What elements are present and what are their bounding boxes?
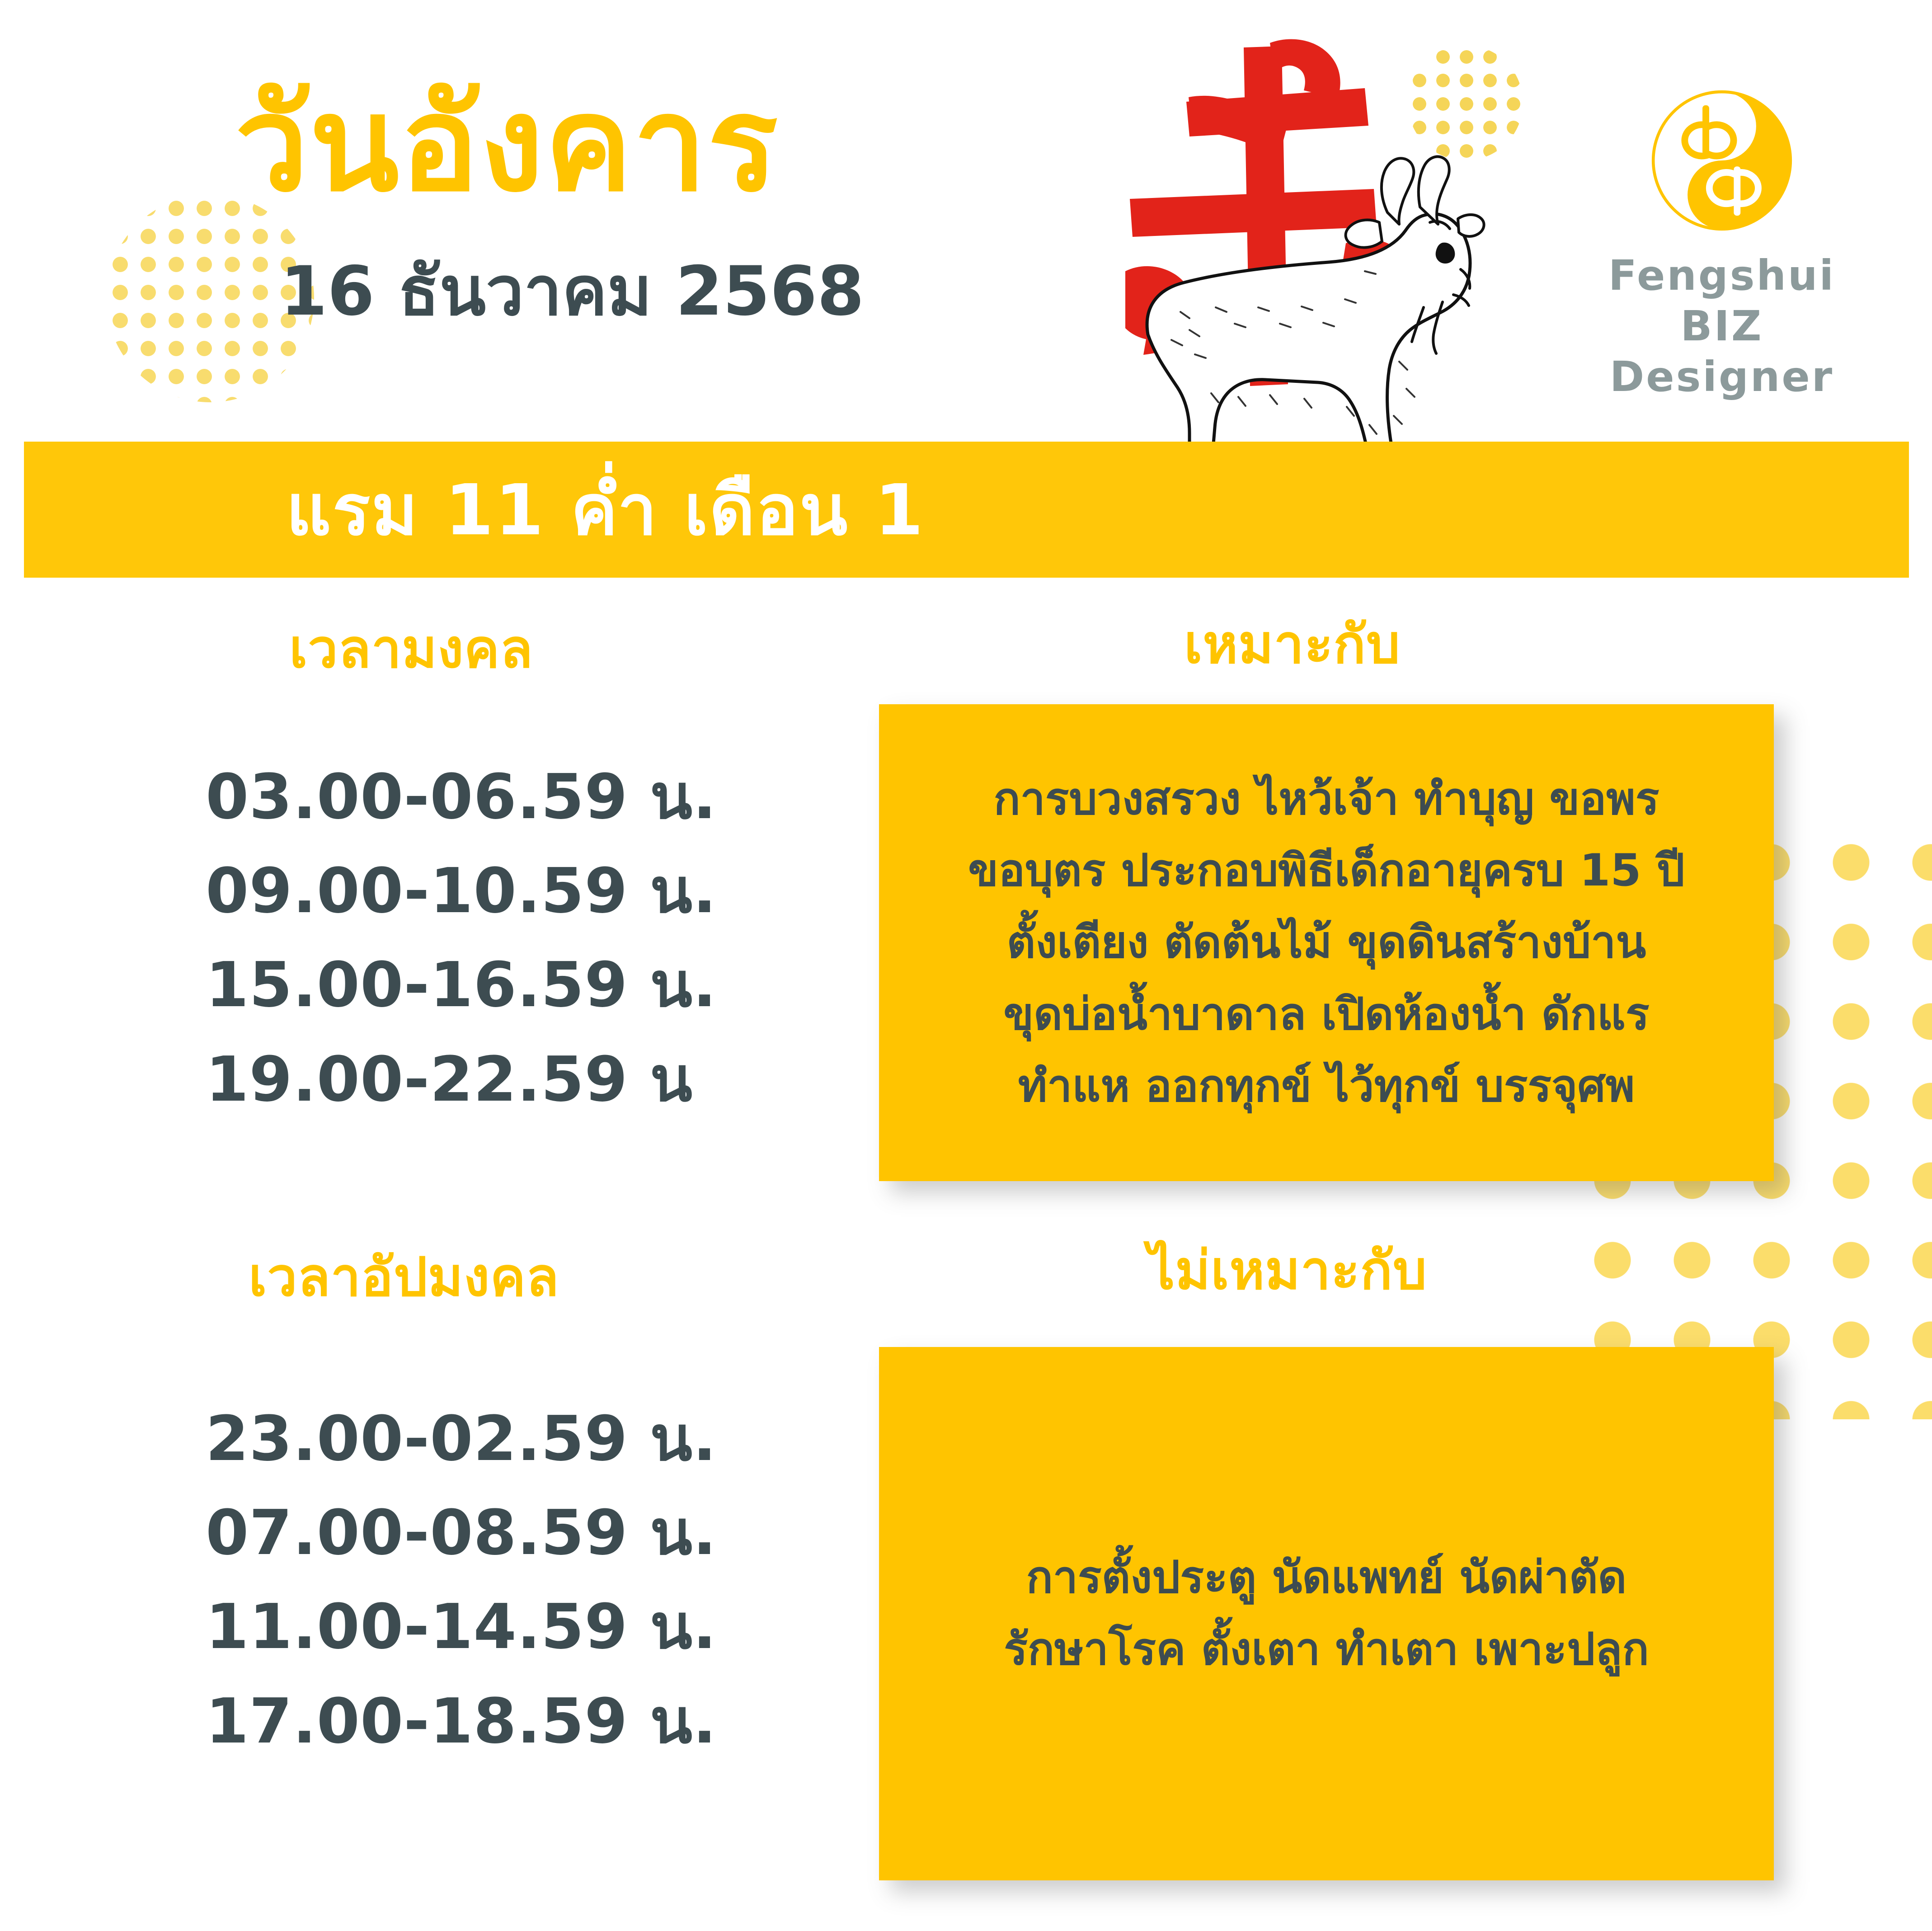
lunar-banner-text: แรม 11 ค่ำ เดือน 1: [286, 454, 925, 565]
auspicious-time-row: 03.00-06.59 น.: [206, 750, 717, 844]
yinyang-bd-logo-icon: [1647, 86, 1796, 235]
inauspicious-time-row: 17.00-18.59 น.: [206, 1675, 717, 1769]
lunar-banner: แรม 11 ค่ำ เดือน 1: [24, 442, 1909, 578]
goat-body: [1147, 214, 1470, 479]
inauspicious-time-row: 07.00-08.59 น.: [206, 1486, 717, 1580]
inauspicious-time-row: 23.00-02.59 น.: [206, 1392, 717, 1486]
brand-logo: Fengshui BIZ Designer: [1582, 86, 1862, 403]
auspicious-time-row: 09.00-10.59 น.: [206, 844, 717, 938]
not-suitable-card: การตั้งประตู นัดแพทย์ นัดผ่าตัด รักษาโรค…: [879, 1347, 1774, 1880]
suitable-line: ขุดบ่อน้ำบาดาล เปิดห้องน้ำ ดักแร: [897, 979, 1756, 1050]
page-title: วันอังคาร: [235, 79, 779, 210]
suitable-line: ตั้งเตียง ตัดต้นไม้ ขุดดินสร้างบ้าน: [897, 907, 1756, 979]
auspicious-time-list: 03.00-06.59 น. 09.00-10.59 น. 15.00-16.5…: [206, 750, 717, 1127]
poster-canvas: วันอังคาร 16 ธันวาคม 2568: [0, 0, 1932, 1931]
suitable-line: การบวงสรวง ไหว้เจ้า ทำบุญ ขอพร: [897, 763, 1756, 835]
brand-subtitle: Designer: [1582, 352, 1862, 402]
inauspicious-heading: เวลาอัปมงคล: [249, 1234, 559, 1319]
auspicious-heading: เวลามงคล: [289, 606, 533, 691]
suitable-line: ขอบุตร ประกอบพิธีเด็กอายุครบ 15 ปี: [897, 835, 1756, 907]
auspicious-time-row: 19.00-22.59 น: [206, 1033, 717, 1127]
not-suitable-heading: ไม่เหมาะกับ: [1148, 1227, 1427, 1312]
inauspicious-time-list: 23.00-02.59 น. 07.00-08.59 น. 11.00-14.5…: [206, 1392, 717, 1769]
brand-name: Fengshui BIZ: [1582, 250, 1862, 352]
not-suitable-line: การตั้งประตู นัดแพทย์ นัดผ่าตัด: [897, 1542, 1756, 1614]
suitable-line: ทำแห ออกทุกข์ ไว้ทุกข์ บรรจุศพ: [897, 1050, 1756, 1122]
suitable-card: การบวงสรวง ไหว้เจ้า ทำบุญ ขอพร ขอบุตร ปร…: [879, 704, 1774, 1181]
suitable-heading: เหมาะกับ: [1184, 601, 1401, 686]
not-suitable-line: รักษาโรค ตั้งเตา ทำเตา เพาะปลูก: [897, 1614, 1756, 1686]
gregorian-date: 16 ธันวาคม 2568: [280, 258, 864, 325]
auspicious-time-row: 15.00-16.59 น.: [206, 938, 717, 1032]
inauspicious-time-row: 11.00-14.59 น.: [206, 1580, 717, 1674]
